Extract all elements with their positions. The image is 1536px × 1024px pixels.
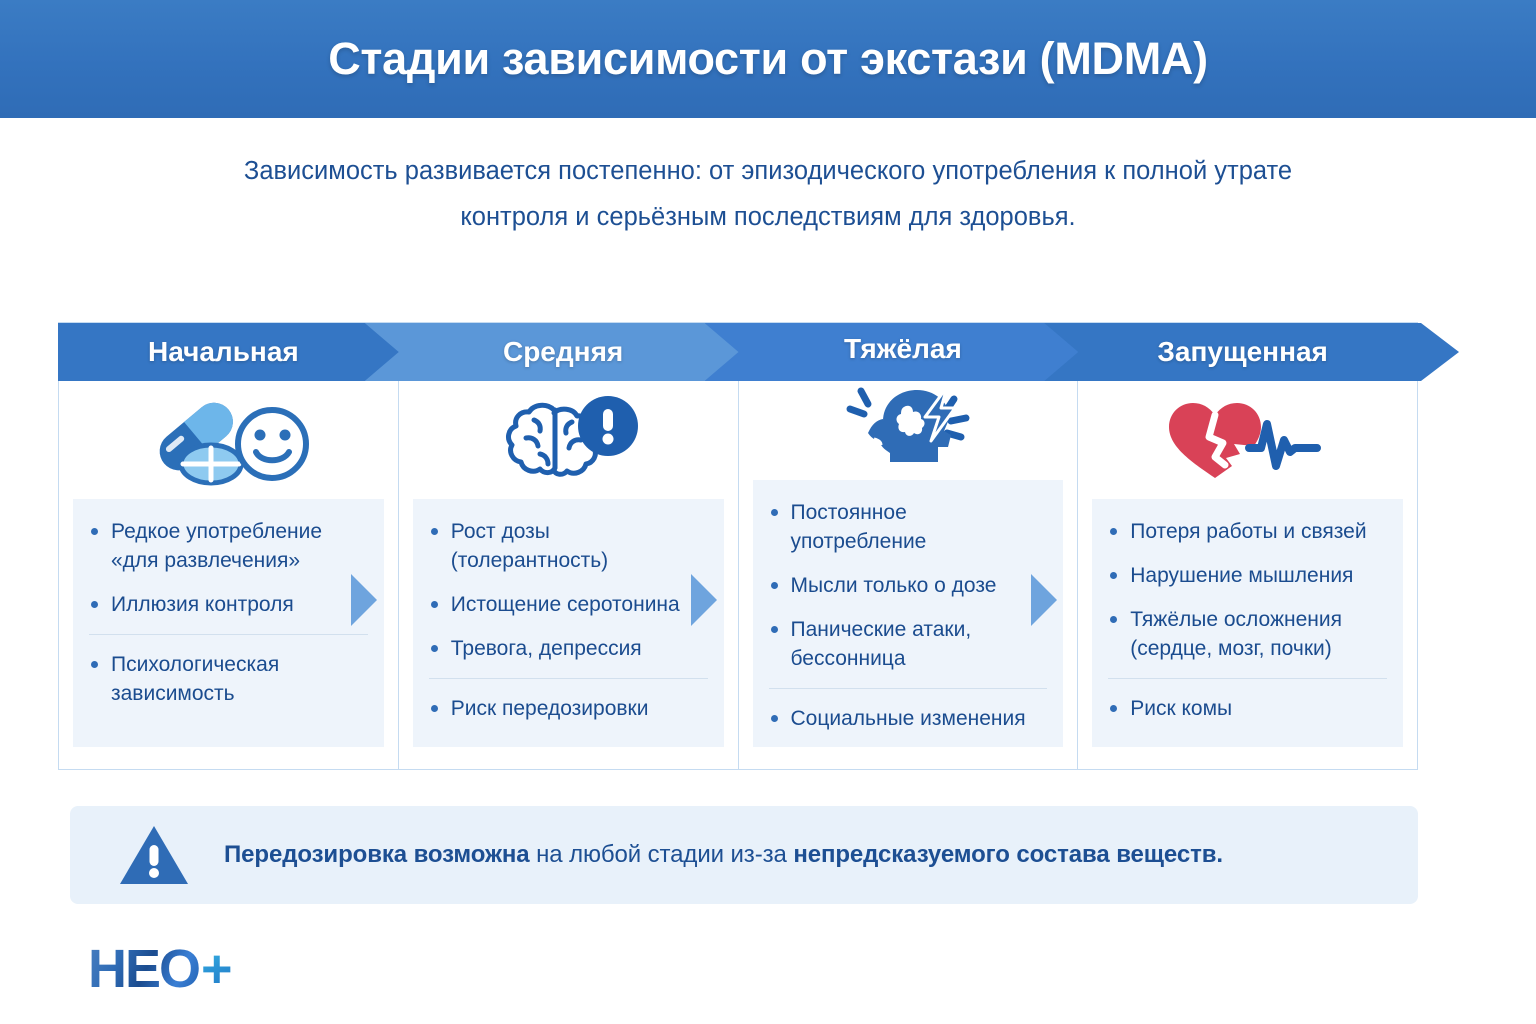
pills-smiley-icon <box>59 381 398 499</box>
warning-text: Передозировка возможна на любой стадии и… <box>224 841 1223 869</box>
stage-card-1[interactable]: Начальная <box>58 322 399 770</box>
stage-label-2: Средняя <box>399 336 740 368</box>
stage-label-3: Тяжёлая <box>739 333 1080 365</box>
warning-triangle-icon <box>118 823 190 887</box>
brand-logo[interactable]: НЕО + <box>88 938 233 1000</box>
subtitle-line-2: контроля и серьёзным последствиям для зд… <box>0 194 1536 240</box>
subtitle: Зависимость развивается постепенно: от э… <box>0 148 1536 240</box>
stage-bullets-3: Постоянное употребление Мысли только о д… <box>753 480 1064 747</box>
list-item: Социальные изменения <box>769 688 1048 733</box>
list-item: Риск комы <box>1108 678 1387 723</box>
broken-heart-pulse-icon <box>1078 381 1417 499</box>
stage-connector-arrow-1 <box>351 574 377 626</box>
warning-bold-end: непредсказуемого состава веществ. <box>793 841 1223 868</box>
list-item: Мысли только о дозе <box>769 571 1048 600</box>
list-item: Тяжёлые осложнения (сердце, мозг, почки) <box>1108 605 1387 663</box>
list-item: Иллюзия контроля <box>89 590 368 619</box>
list-item: Рост дозы (толерантность) <box>429 517 708 575</box>
head-lightning-icon <box>739 375 1078 480</box>
warning-bold-start: Передозировка возможна <box>224 841 530 868</box>
list-item: Нарушение мышления <box>1108 561 1387 590</box>
stage-bullets-2: Рост дозы (толерантность) Истощение серо… <box>413 499 724 747</box>
header-banner: Стадии зависимости от экстази (MDMA) <box>0 0 1536 118</box>
stage-header-4[interactable]: Запущенная <box>1078 323 1419 381</box>
list-item: Тревога, депрессия <box>429 634 708 663</box>
stage-connector-arrow-3 <box>1031 574 1057 626</box>
stage-card-2[interactable]: Средняя Рост дозы (толерантность) <box>399 322 739 770</box>
stages-board: Начальная <box>58 322 1418 770</box>
stage-header-1[interactable]: Начальная <box>59 323 400 381</box>
subtitle-line-1: Зависимость развивается постепенно: от э… <box>0 148 1536 194</box>
list-item: Риск передозировки <box>429 678 708 723</box>
warning-banner: Передозировка возможна на любой стадии и… <box>70 806 1418 904</box>
list-item: Потеря работы и связей <box>1108 517 1387 546</box>
stage-connector-arrow-2 <box>691 574 717 626</box>
stage-card-4[interactable]: Запущенная Потеря работы и связей Наруше… <box>1078 322 1418 770</box>
warning-regular-middle: на любой стадии из-за <box>530 841 794 868</box>
stage-header-2[interactable]: Средняя <box>399 323 740 381</box>
stage-card-3[interactable]: Тяжёлая <box>739 322 1079 770</box>
list-item: Панические атаки, бессонница <box>769 615 1048 673</box>
brain-alert-icon <box>399 381 738 499</box>
stage-bullets-1: Редкое употребление «для развлечения» Ил… <box>73 499 384 747</box>
list-item: Редкое употребление «для развлечения» <box>89 517 368 575</box>
logo-wordmark: НЕО <box>88 938 199 1000</box>
stage-bullets-4: Потеря работы и связей Нарушение мышлени… <box>1092 499 1403 747</box>
logo-plus-icon: + <box>201 938 233 1000</box>
stage-label-1: Начальная <box>59 336 400 368</box>
list-item: Истощение серотонина <box>429 590 708 619</box>
stage-header-3[interactable]: Тяжёлая <box>739 323 1080 375</box>
stage-label-4: Запущенная <box>1078 336 1419 368</box>
page-title: Стадии зависимости от экстази (MDMA) <box>328 33 1208 85</box>
list-item: Постоянное употребление <box>769 498 1048 556</box>
list-item: Психологическая зависимость <box>89 634 368 708</box>
